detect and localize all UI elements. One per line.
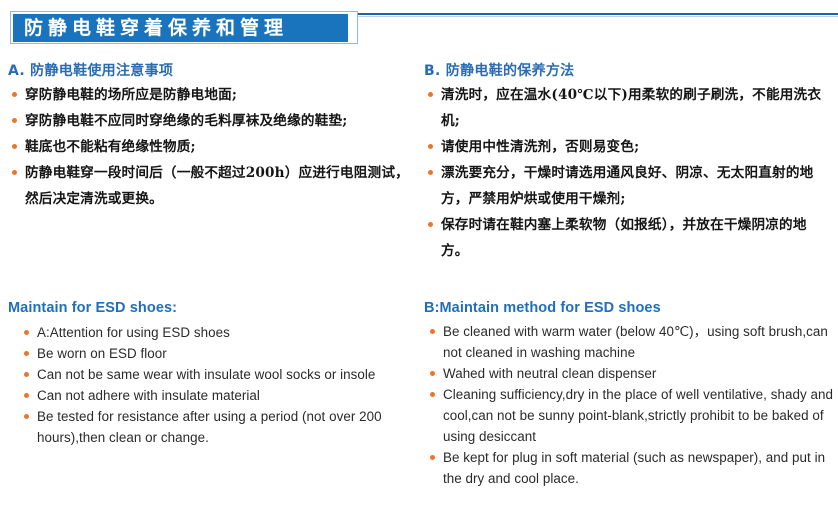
list-item: Be kept for plug in soft material (such … [426, 447, 836, 489]
list-item: Be cleaned with warm water (below 40℃)，u… [426, 321, 836, 363]
list-item: Wahed with neutral clean dispenser [426, 363, 836, 384]
list-en-a: A:Attention for using ESD shoes Be worn … [8, 322, 426, 448]
list-item: Can not be same wear with insulate wool … [20, 364, 426, 385]
list-item: A:Attention for using ESD shoes [20, 322, 426, 343]
page-header: 防静电鞋穿着保养和管理 [0, 0, 838, 52]
list-en-b: Be cleaned with warm water (below 40℃)，u… [424, 321, 836, 489]
list-cn-b: 清洗时，应在温水(40℃以下)用柔软的刷子刷洗，不能用洗衣机; 请使用中性清洗剂… [424, 82, 834, 264]
list-item: Can not adhere with insulate material [20, 385, 426, 406]
list-item: Cleaning sufficiency,dry in the place of… [426, 384, 836, 447]
list-item: 穿防静电鞋不应同时穿绝缘的毛料厚袜及绝缘的鞋垫; [8, 108, 414, 134]
list-item: 鞋底也不能粘有绝缘性物质; [8, 134, 414, 160]
list-item: 请使用中性清洗剂，否则易变色; [424, 134, 834, 160]
list-item: 清洗时，应在温水(40℃以下)用柔软的刷子刷洗，不能用洗衣机; [424, 82, 834, 134]
page-title: 防静电鞋穿着保养和管理 [24, 16, 288, 40]
list-item: 穿防静电鞋的场所应是防静电地面; [8, 82, 414, 108]
list-item: 漂洗要充分，干燥时请选用通风良好、阴凉、无太阳直射的地方，严禁用炉烘或使用干燥剂… [424, 160, 834, 212]
list-item: 防静电鞋穿一段时间后（一般不超过200h）应进行电阻测试，然后决定清洗或更换。 [8, 160, 414, 212]
section-heading-en-a: Maintain for ESD shoes: [8, 300, 414, 316]
list-item: Be tested for resistance after using a p… [20, 406, 426, 448]
list-item: 保存时请在鞋内塞上柔软物（如报纸），并放在干燥阴凉的地方。 [424, 212, 834, 264]
list-item: Be worn on ESD floor [20, 343, 426, 364]
section-heading-en-b: B:Maintain method for ESD shoes [424, 300, 834, 316]
section-heading-cn-b: B. 防静电鞋的保养方法 [424, 60, 834, 80]
list-cn-a: 穿防静电鞋的场所应是防静电地面; 穿防静电鞋不应同时穿绝缘的毛料厚袜及绝缘的鞋垫… [8, 82, 414, 212]
section-heading-cn-a: A. 防静电鞋使用注意事项 [8, 60, 414, 80]
